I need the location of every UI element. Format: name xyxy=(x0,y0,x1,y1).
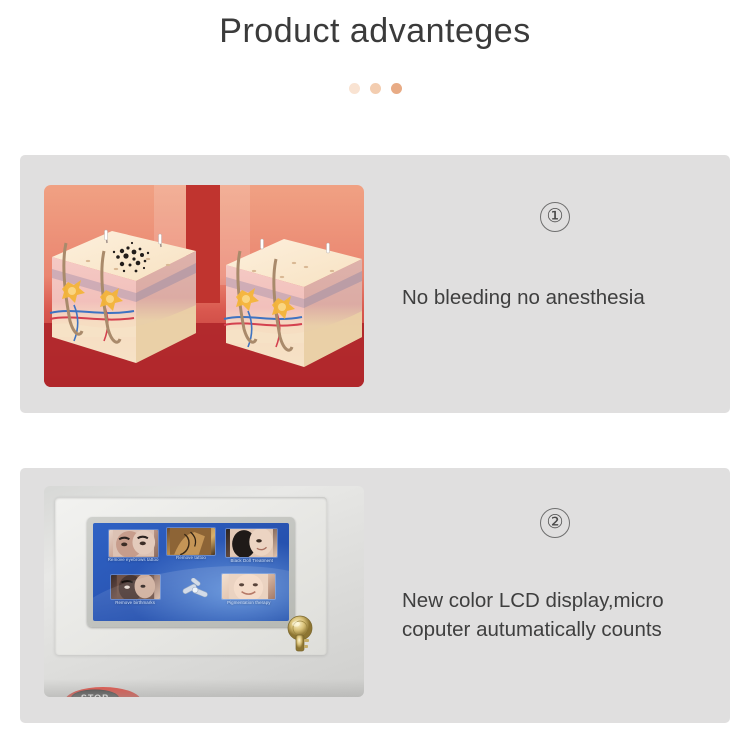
lcd-bezel: Remove eyebrows tattoo xyxy=(87,517,295,627)
decorative-dots xyxy=(0,83,750,94)
machine-lcd-image: Remove eyebrows tattoo xyxy=(44,486,364,697)
advantage-card-2: Remove eyebrows tattoo xyxy=(20,468,730,723)
smiling-face-icon xyxy=(222,574,275,600)
advantage-number-1: ① xyxy=(380,202,730,232)
lcd-tile-remove-birthmarks[interactable]: Remove birthmarks xyxy=(111,575,160,614)
advantage-card-1-body: ① No bleeding no anesthesia xyxy=(380,155,730,413)
lcd-tile-2-thumbnail xyxy=(167,528,214,555)
advantage-number-2-text: ② xyxy=(540,508,570,538)
advantage-text-2: New color LCD display,micro coputer autu… xyxy=(402,586,732,644)
page-title: Product advanteges xyxy=(0,12,750,51)
dot-3-icon xyxy=(391,83,402,94)
lcd-tile-2-label: Remove tattoo xyxy=(161,555,220,560)
skin-cross-section-illustration xyxy=(44,185,364,387)
tattooed-arm-icon xyxy=(167,528,214,555)
advantage-text-2-line-2: coputer autumatically counts xyxy=(402,615,732,644)
lcd-tile-3-thumbnail xyxy=(226,529,277,557)
key-lock-icon[interactable] xyxy=(283,615,317,653)
machine-front-panel: Remove eyebrows tattoo xyxy=(55,497,327,655)
advantage-card-1: ① No bleeding no anesthesia xyxy=(20,155,730,413)
lcd-tile-5-thumbnail xyxy=(222,574,275,600)
lcd-tile-pigmentation-therapy[interactable]: Pigmentation therapy xyxy=(222,574,275,615)
page-header: Product advanteges xyxy=(0,0,750,130)
face-birthmark-icon xyxy=(111,575,160,599)
lcd-tile-5-label: Pigmentation therapy xyxy=(216,600,281,605)
photo-bottom-fade xyxy=(44,679,364,697)
product-advantages-page: Product advanteges xyxy=(0,0,750,741)
advantage-text-1: No bleeding no anesthesia xyxy=(402,283,732,312)
lcd-tile-1-thumbnail xyxy=(109,530,158,557)
advantage-number-2: ② xyxy=(380,508,730,538)
dot-2-icon xyxy=(370,83,381,94)
lcd-screen[interactable]: Remove eyebrows tattoo xyxy=(93,523,289,621)
advantage-number-1-text: ① xyxy=(540,202,570,232)
lcd-tile-remove-tattoo[interactable]: Remove tattoo xyxy=(167,528,214,571)
lcd-tile-black-doll-treatment[interactable]: Black Doll Treatment xyxy=(226,529,277,574)
lcd-tile-4-thumbnail xyxy=(111,575,160,599)
lcd-tile-1-label: Remove eyebrows tattoo xyxy=(103,557,164,562)
skin-block-left xyxy=(50,230,196,363)
advantage-card-2-body: ② New color LCD display,micro coputer au… xyxy=(380,468,730,723)
advantage-text-2-line-1: New color LCD display,micro xyxy=(402,586,732,615)
face-eyebrow-icon xyxy=(109,530,158,557)
handpiece-tool-icon xyxy=(179,578,213,602)
dot-1-icon xyxy=(349,83,360,94)
skin-cross-section-image xyxy=(44,185,364,387)
lcd-tile-remove-eyebrows-tattoo[interactable]: Remove eyebrows tattoo xyxy=(109,530,158,573)
machine-photo: Remove eyebrows tattoo xyxy=(44,486,364,697)
lcd-tile-4-label: Remove birthmarks xyxy=(105,600,166,605)
black-mask-face-icon xyxy=(226,529,277,557)
lcd-tile-3-label: Black Doll Treatment xyxy=(220,558,283,563)
